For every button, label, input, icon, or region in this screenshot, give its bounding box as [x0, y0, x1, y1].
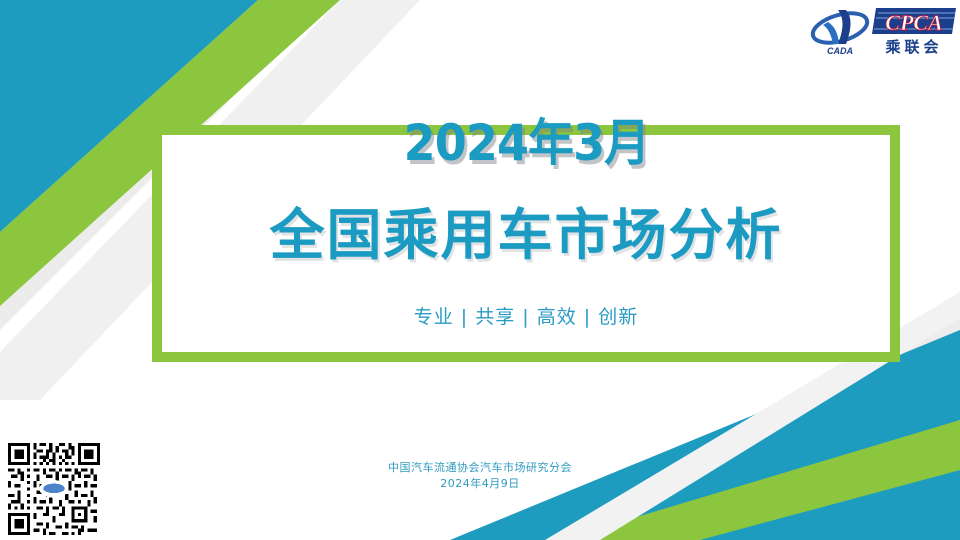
svg-text:CPCA: CPCA [885, 10, 942, 35]
slide-canvas: 2024年3月 全国乘用车市场分析 专业 | 共享 | 高效 | 创新 中国汽车… [0, 0, 960, 540]
page-title-main: 全国乘用车市场分析 [152, 190, 900, 270]
svg-text:CADA: CADA [827, 46, 853, 56]
cpca-logo: CADA CPCA 乘联会 [808, 4, 956, 60]
cpca-wordmark: CPCA 乘联会 [872, 8, 956, 56]
footer-date: 2024年4月9日 [0, 476, 960, 492]
cada-emblem-icon: CADA [810, 8, 871, 56]
footer-organization: 中国汽车流通协会汽车市场研究分会 [0, 460, 960, 476]
footer: 中国汽车流通协会汽车市场研究分会 2024年4月9日 [0, 460, 960, 492]
title-row: 2024年3月 [152, 104, 900, 174]
tagline: 专业 | 共享 | 高效 | 创新 [152, 302, 900, 329]
page-title-month: 2024年3月 [403, 103, 649, 175]
qr-code-icon[interactable] [8, 443, 100, 535]
svg-text:乘联会: 乘联会 [884, 38, 942, 56]
qr-center-logo [39, 480, 68, 498]
